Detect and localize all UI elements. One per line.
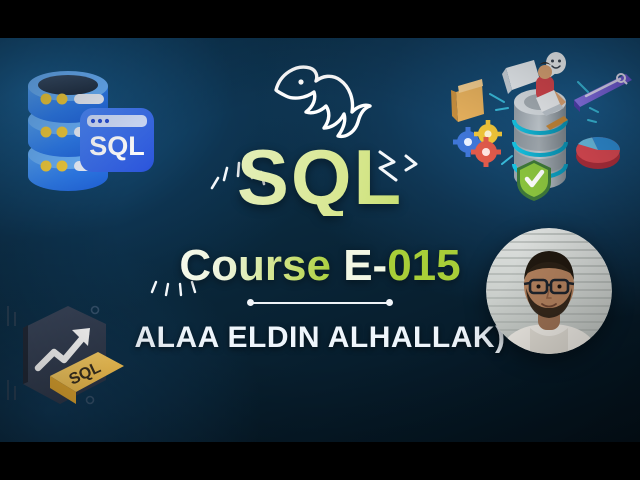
page-title: SQL: [0, 138, 640, 216]
letterbox-top: [0, 0, 640, 38]
course-code-prefix: E-: [343, 241, 387, 290]
letterbox-bottom: [0, 442, 640, 480]
folder-icon: [451, 79, 484, 122]
presenter-avatar: [486, 228, 612, 354]
course-word: Course: [179, 241, 331, 290]
divider-dot-left: [247, 299, 254, 306]
thumbnail-canvas: SQL: [0, 38, 640, 442]
thumbnail-stage: SQL: [0, 0, 640, 480]
document-page: [502, 60, 540, 94]
mysql-dolphin-icon: [266, 56, 374, 145]
divider-dot-right: [386, 299, 393, 306]
divider-line: [247, 300, 393, 305]
search-bar-icon: [574, 74, 632, 112]
course-code-number: 015: [387, 241, 460, 290]
